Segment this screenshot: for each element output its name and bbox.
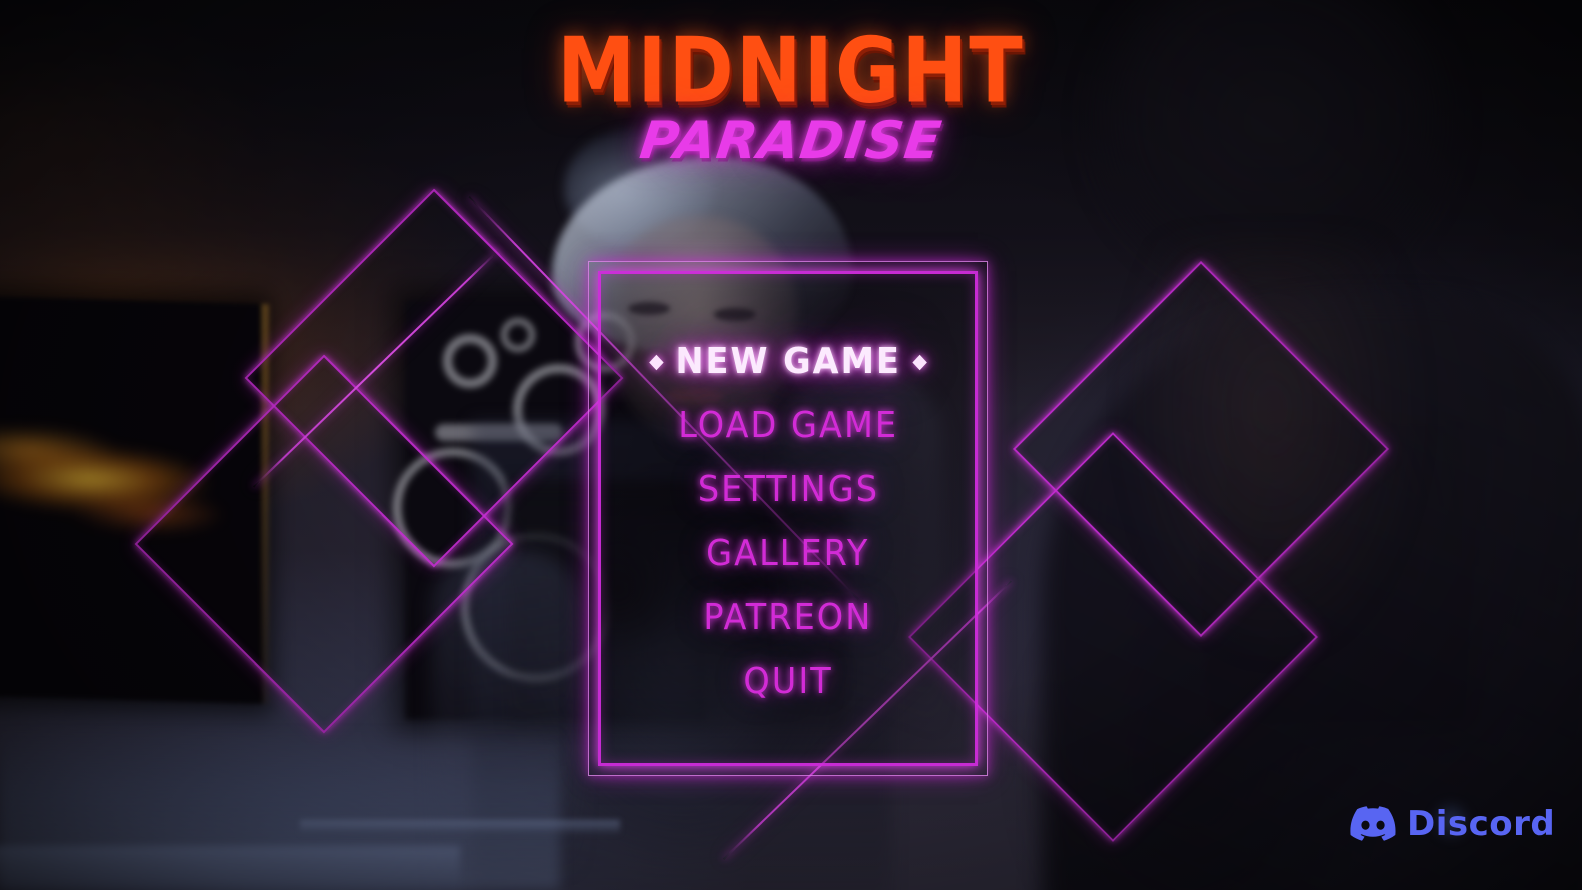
menu-item-label: SETTINGS: [697, 469, 878, 510]
menu-item-label: PATREON: [704, 597, 873, 638]
menu-item-load-game[interactable]: LOAD GAME: [678, 394, 898, 458]
discord-link[interactable]: Discord: [1350, 806, 1555, 841]
main-menu-list: NEW GAME LOAD GAME SETTINGS GALLERY PATR…: [588, 330, 988, 714]
discord-logo-icon: [1350, 806, 1396, 841]
menu-item-label: GALLERY: [706, 533, 869, 574]
menu-item-label: NEW GAME: [675, 341, 900, 382]
menu-item-patreon[interactable]: PATREON: [704, 586, 873, 650]
game-main-menu-screen: MIDNIGHT PARADISE NEW GAME LOAD GAME SET…: [0, 0, 1582, 890]
menu-item-label: LOAD GAME: [678, 405, 898, 446]
menu-item-gallery[interactable]: GALLERY: [706, 522, 869, 586]
menu-item-quit[interactable]: QUIT: [743, 650, 832, 714]
discord-label: Discord: [1407, 807, 1555, 841]
menu-item-settings[interactable]: SETTINGS: [697, 458, 878, 522]
menu-item-label: QUIT: [743, 661, 832, 702]
selection-diamond-right-icon: [913, 355, 927, 371]
menu-item-new-game[interactable]: NEW GAME: [675, 330, 900, 394]
selection-diamond-left-icon: [649, 355, 663, 371]
